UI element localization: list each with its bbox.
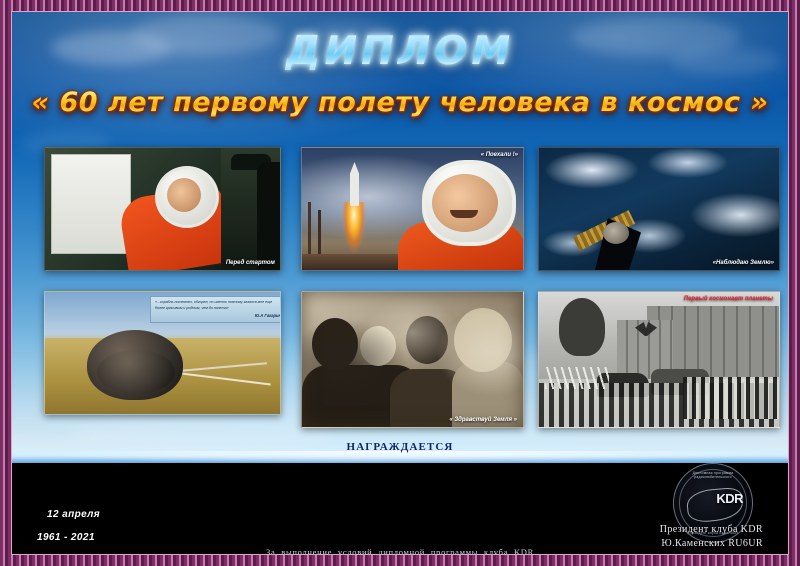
emblem-abbr: KDR [716,491,743,506]
photo-before-start: Перед стартом [44,147,281,271]
date-years: 1961 - 2021 [37,532,100,543]
certificate-canvas: ДИПЛОМ « 60 лет первому полету человека … [11,11,789,555]
bus-window [51,154,131,254]
page-subtitle: « 60 лет первому полету человека в космо… [11,87,789,118]
photo-watching-earth: «Наблюдаю Землю» [538,147,780,271]
second-attendant [257,162,281,270]
photo-caption: « Здравствуй Земля » [449,417,517,423]
quote-text: «...корабль потемнел, обгорел, но именно… [155,300,272,310]
photo-wear-vignette [302,292,523,427]
quote-author: Ю.А Гагарин [155,313,281,319]
photo-caption: Первый космонавт планеты [684,296,773,302]
signature-name: Ю.Каменских RU6UR [660,537,763,551]
photo-caption: Перед стартом [226,260,275,266]
cosmonaut-face [167,178,201,212]
street-tree [559,298,605,356]
photo-caption: «Наблюдаю Землю» [713,260,774,266]
photo-lets-go: « Поехали !» [301,147,524,271]
photo-first-cosmonaut-parade: Первый космонавт планеты [538,291,780,428]
photo-caption: « Поехали !» [481,152,518,158]
diploma-certificate: ДИПЛОМ « 60 лет первому полету человека … [0,0,800,566]
gagarin-smile [450,210,478,218]
raised-arms [545,367,609,389]
signature-block: Президент клуба KDR Ю.Каменских RU6UR [660,523,763,550]
signature-title: Президент клуба KDR [660,523,763,537]
date-day: 12 апреля [47,509,100,520]
photo-descent-capsule: «...корабль потемнел, обгорел, но именно… [44,291,281,415]
award-label: НАГРАЖДАЕТСЯ [11,441,789,453]
photo-hello-earth: « Здравствуй Земля » [301,291,524,428]
capsule-shading [97,350,175,394]
earth-surface [539,148,779,270]
emblem-arc-top: Дипломная программа радиолюбительского [674,471,752,479]
welcoming-crowd-right [683,377,779,419]
gagarin-quote-box: «...корабль потемнел, обгорел, но именно… [150,296,281,323]
gagarin-face [432,174,498,232]
satellite-dish [603,222,629,244]
page-title: ДИПЛОМ [11,29,789,74]
date-block: 12 апреля 1961 - 2021 [47,509,100,543]
decorative-frame: ДИПЛОМ « 60 лет первому полету человека … [0,0,800,566]
